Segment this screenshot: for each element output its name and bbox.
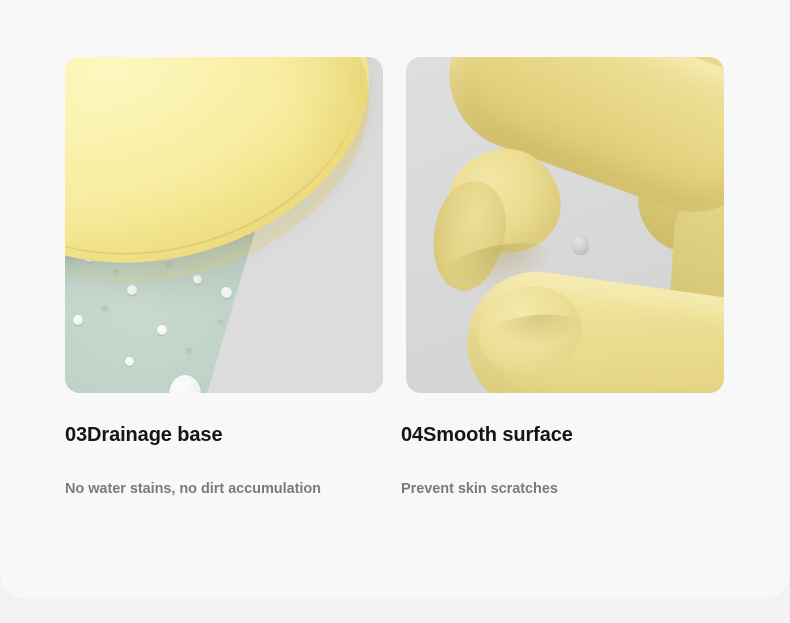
feature-number: 03	[65, 424, 87, 446]
caption-drainage-base: 03Drainage base No water stains, no dirt…	[65, 424, 395, 497]
drainage-hole	[73, 315, 83, 325]
smooth-surface-illustration	[406, 57, 724, 393]
feature-title: Smooth surface	[423, 424, 573, 446]
content-card: 03Drainage base No water stains, no dirt…	[0, 0, 790, 599]
caption-smooth-surface: 04Smooth surface Prevent skin scratches	[401, 424, 741, 497]
drainage-hole	[157, 325, 167, 335]
feature-image-drainage-base[interactable]	[65, 57, 383, 393]
drainage-dimple	[185, 347, 194, 356]
page-root: 03Drainage base No water stains, no dirt…	[0, 0, 790, 623]
drainage-dimple	[217, 319, 225, 327]
grey-pin	[572, 235, 589, 255]
feature-grid: 03Drainage base No water stains, no dirt…	[0, 0, 790, 599]
drainage-hole	[125, 357, 134, 366]
feature-title-row: 04Smooth surface	[401, 424, 741, 447]
feature-title-row: 03Drainage base	[65, 424, 395, 447]
drainage-base-illustration	[65, 57, 383, 393]
feature-subtitle: Prevent skin scratches	[401, 447, 741, 497]
feature-number: 04	[401, 424, 423, 446]
feature-image-smooth-surface[interactable]	[406, 57, 724, 393]
feature-title: Drainage base	[87, 424, 222, 446]
feature-subtitle: No water stains, no dirt accumulation	[65, 447, 395, 497]
